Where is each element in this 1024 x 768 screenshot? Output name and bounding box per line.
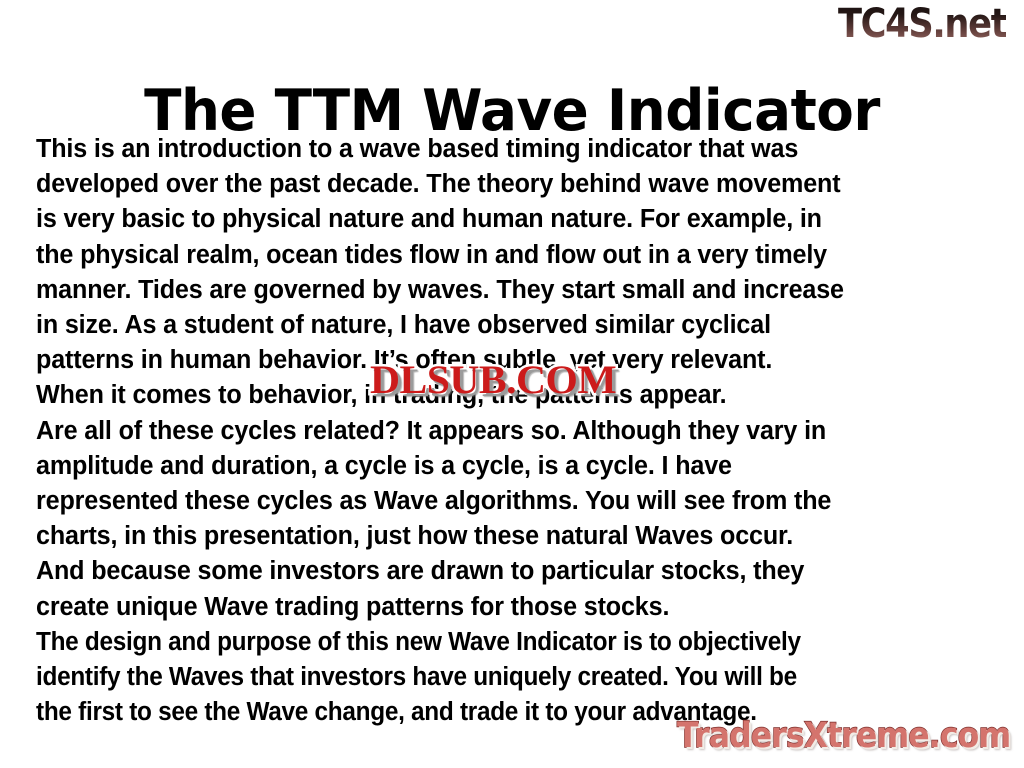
body-line: represented these cycles as Wave algorit… bbox=[36, 484, 989, 519]
body-line: manner. Tides are governed by waves. The… bbox=[36, 273, 989, 308]
body-line: This is an introduction to a wave based … bbox=[36, 132, 989, 167]
tc4s-brand-logo: TC4S.net bbox=[838, 2, 1006, 46]
body-line: create unique Wave trading patterns for … bbox=[36, 590, 989, 625]
body-line: And because some investors are drawn to … bbox=[36, 554, 989, 589]
body-line: developed over the past decade. The theo… bbox=[36, 167, 989, 202]
presentation-slide: TC4S.net The TTM Wave Indicator This is … bbox=[0, 0, 1024, 768]
body-line: charts, in this presentation, just how t… bbox=[36, 519, 989, 554]
body-line: identify the Waves that investors have u… bbox=[36, 660, 960, 695]
body-line: Are all of these cycles related? It appe… bbox=[36, 414, 989, 449]
body-text: This is an introduction to a wave based … bbox=[36, 132, 1004, 730]
tradersxtreme-footer-logo: TradersXtreme.com bbox=[677, 716, 1010, 756]
dlsub-watermark: DLSUB.COM bbox=[370, 360, 616, 400]
body-line: The design and purpose of this new Wave … bbox=[36, 625, 960, 660]
body-line: the physical realm, ocean tides flow in … bbox=[36, 238, 989, 273]
body-line: in size. As a student of nature, I have … bbox=[36, 308, 989, 343]
body-line: amplitude and duration, a cycle is a cyc… bbox=[36, 449, 989, 484]
body-line: is very basic to physical nature and hum… bbox=[36, 202, 989, 237]
